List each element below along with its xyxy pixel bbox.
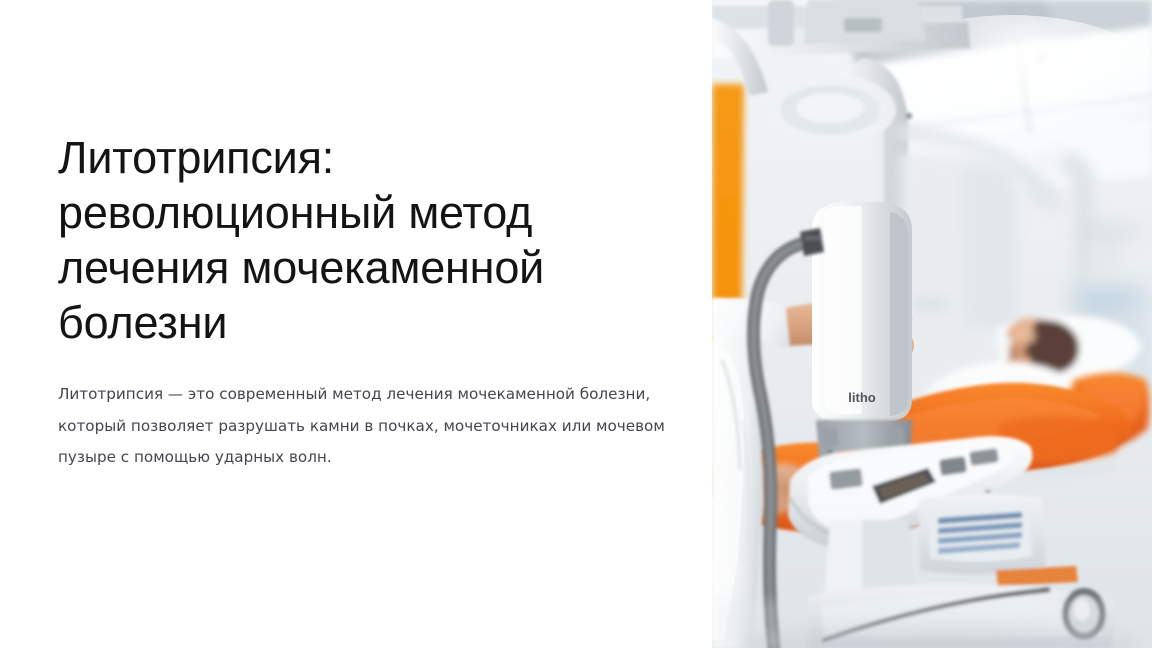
foreground-haze xyxy=(712,600,1152,648)
text-panel: Литотрипсия: революционный метод лечения… xyxy=(0,0,712,648)
lithotripsy-photo: litho xyxy=(712,0,1152,648)
lithotripsy-photo-illustration: litho xyxy=(712,0,1152,648)
body-paragraph: Литотрипсия — это современный метод лече… xyxy=(58,379,673,474)
slide-root: Литотрипсия: революционный метод лечения… xyxy=(0,0,1152,648)
device-brand-label: litho xyxy=(848,390,875,405)
page-title: Литотрипсия: революционный метод лечения… xyxy=(58,130,668,350)
